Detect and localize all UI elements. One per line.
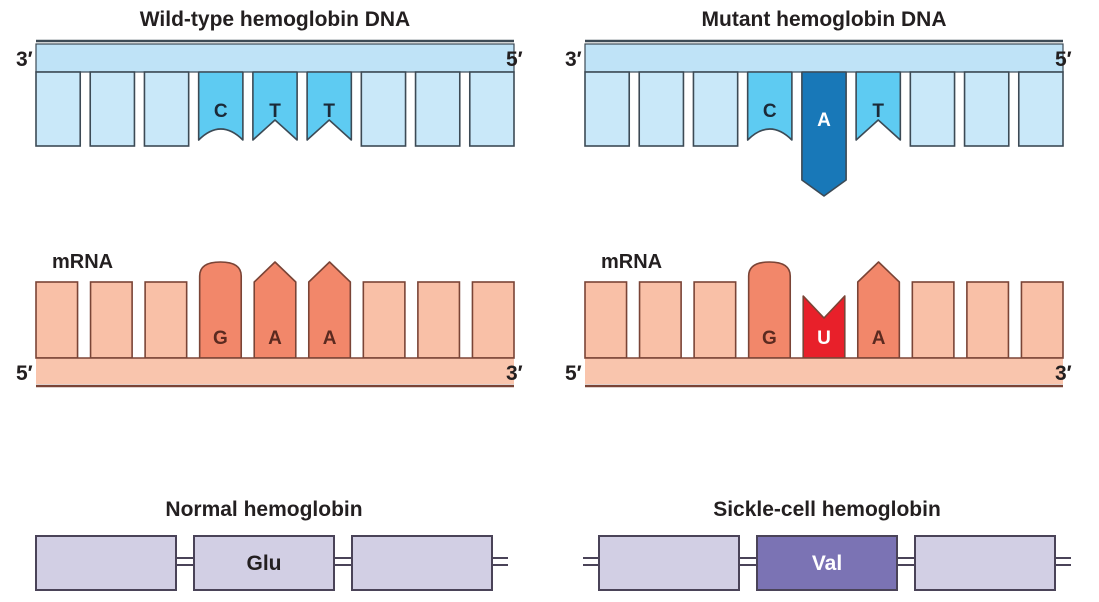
mrna-label-right: mRNA [601, 251, 662, 273]
dna-tooth-left-0 [36, 72, 80, 146]
mrna-tooth-right-2 [694, 282, 736, 358]
mrna-base-letter-right-4: U [817, 328, 831, 349]
dna-tooth-right-2 [693, 72, 737, 146]
mrna-base-letter-left-5: A [323, 328, 337, 349]
mrna-tooth-right-8 [1021, 282, 1063, 358]
mrna-tooth-right-7 [967, 282, 1009, 358]
mrna-base-letter-left-3: G [213, 328, 228, 349]
mrna-backbone-right [585, 358, 1063, 384]
protein-panel-title-right: Sickle-cell hemoglobin [713, 498, 941, 521]
dna-tooth-left-7 [416, 72, 460, 146]
dna-tooth-right-0 [585, 72, 629, 146]
mrna-tooth-right-0 [585, 282, 627, 358]
mrna-base-letter-right-3: G [762, 328, 777, 349]
mrna-base-letter-right-5: A [872, 328, 886, 349]
mrna-tooth-left-1 [91, 282, 133, 358]
mrna-tooth-left-2 [145, 282, 187, 358]
dna-panel-title-left: Wild-type hemoglobin DNA [140, 8, 410, 31]
mrna-tooth-right-1 [640, 282, 682, 358]
dna-base-right-4 [802, 72, 846, 196]
mrna-base-letter-left-4: A [268, 328, 282, 349]
dna-base-letter-right-5: T [872, 101, 884, 122]
amino-acid-label-right: Val [812, 552, 842, 575]
protein-box-left-2 [352, 536, 492, 590]
protein-box-right-0 [599, 536, 739, 590]
mrna-end-label-right-left: 3′ [506, 362, 523, 385]
mrna-end-label-left-right: 5′ [565, 362, 582, 385]
mrna-label-left: mRNA [52, 251, 113, 273]
dna-tooth-left-2 [144, 72, 188, 146]
diagram-canvas: Wild-type hemoglobin DNA3′5′CTTMutant he… [0, 0, 1099, 602]
protein-panel-title-left: Normal hemoglobin [165, 498, 362, 521]
dna-base-letter-left-4: T [269, 101, 281, 122]
dna-base-letter-right-3: C [763, 101, 777, 122]
dna-backbone-right [585, 44, 1063, 72]
mrna-tooth-left-7 [418, 282, 460, 358]
mrna-end-label-right-right: 3′ [1055, 362, 1072, 385]
dna-base-letter-left-3: C [214, 101, 228, 122]
dna-end-label-left-left: 3′ [16, 48, 33, 71]
dna-tooth-right-1 [639, 72, 683, 146]
protein-box-left-0 [36, 536, 176, 590]
mrna-backbone-left [36, 358, 514, 384]
dna-backbone-left [36, 44, 514, 72]
dna-tooth-right-6 [910, 72, 954, 146]
dna-base-letter-right-4: A [817, 110, 831, 131]
dna-tooth-left-8 [470, 72, 514, 146]
dna-end-label-right-right: 5′ [1055, 48, 1072, 71]
dna-tooth-left-6 [361, 72, 405, 146]
mrna-tooth-left-6 [363, 282, 405, 358]
dna-end-label-right-left: 5′ [506, 48, 523, 71]
mrna-tooth-left-8 [472, 282, 514, 358]
dna-tooth-right-7 [965, 72, 1009, 146]
mrna-tooth-right-6 [912, 282, 954, 358]
protein-box-right-2 [915, 536, 1055, 590]
dna-base-letter-left-5: T [323, 101, 335, 122]
dna-tooth-left-1 [90, 72, 134, 146]
amino-acid-label-left: Glu [247, 552, 282, 575]
dna-tooth-right-8 [1019, 72, 1063, 146]
dna-panel-title-right: Mutant hemoglobin DNA [702, 8, 947, 31]
sickle-cell-mutation-figure: Wild-type hemoglobin DNA3′5′CTTMutant he… [0, 0, 1099, 602]
mrna-end-label-left-left: 5′ [16, 362, 33, 385]
dna-end-label-left-right: 3′ [565, 48, 582, 71]
mrna-tooth-left-0 [36, 282, 78, 358]
